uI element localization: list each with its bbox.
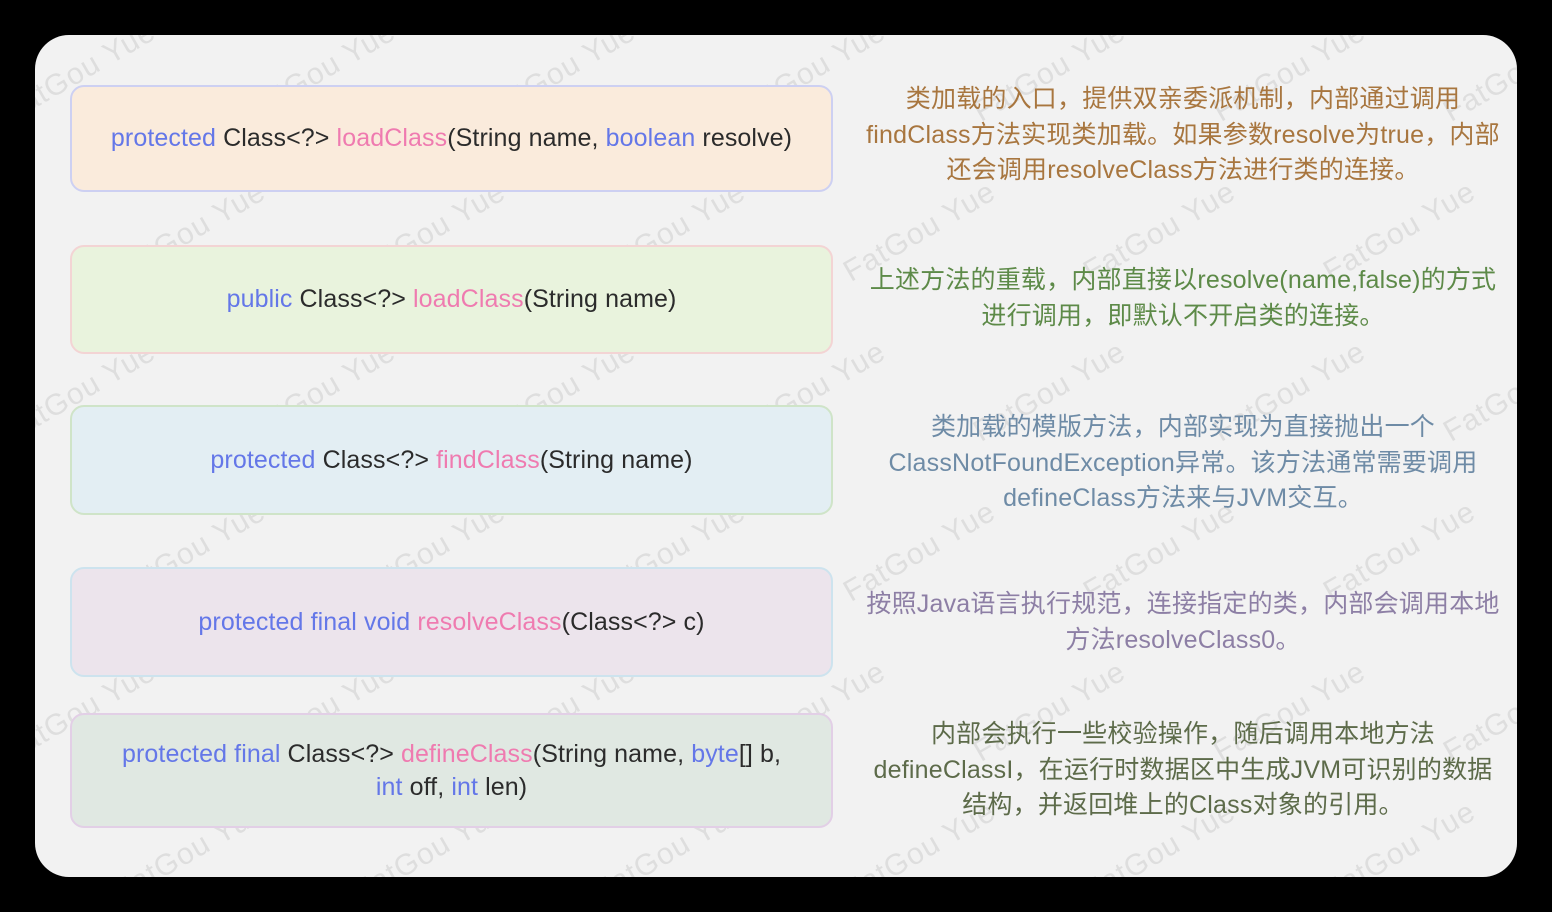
method-signature-card[interactable]: protected Class<?> findClass(String name… [70,405,833,515]
code-token-mth: findClass [436,446,540,474]
method-signature-text: protected final void resolveClass(Class<… [198,606,704,639]
method-signature-card[interactable]: protected final Class<?> defineClass(Str… [70,713,833,828]
code-token-kw: int [376,773,403,801]
code-token-mth: loadClass [337,124,448,152]
code-token-typ: (String name) [524,285,677,313]
code-token-kw: public [227,285,293,313]
code-token-typ: Class<?> [292,285,413,313]
code-token-kw: protected [210,446,315,474]
method-signature-card[interactable]: public Class<?> loadClass(String name) [70,245,833,354]
code-token-kw: int [451,773,478,801]
code-token-typ: len) [478,773,527,801]
code-token-typ: (String name, [533,740,691,768]
method-description: 类加载的模版方法，内部实现为直接抛出一个ClassNotFoundExcepti… [863,410,1503,517]
code-token-mth: loadClass [413,285,524,313]
code-token-typ: Class<?> [216,124,337,152]
code-token-typ: Class<?> [316,446,437,474]
method-signature-card[interactable]: protected final void resolveClass(Class<… [70,567,833,677]
method-signature-text: public Class<?> loadClass(String name) [227,283,677,316]
method-description: 内部会执行一些校验操作，随后调用本地方法defineClassI，在运行时数据区… [863,717,1503,824]
method-signature-text: protected final Class<?> defineClass(Str… [122,738,781,804]
code-token-kw: protected final [122,740,281,768]
code-token-typ: resolve) [695,124,792,152]
code-token-typ: off, [403,773,452,801]
method-description: 上述方法的重载，内部直接以resolve(name,false)的方式进行调用，… [863,263,1503,334]
code-token-typ: (Class<?> c) [562,608,705,636]
method-signature-text: protected Class<?> findClass(String name… [210,444,692,477]
method-signature-text: protected Class<?> loadClass(String name… [111,122,792,155]
code-token-kw: protected [111,124,216,152]
code-token-typ: [] b, [739,740,781,768]
code-token-typ: (String name) [540,446,693,474]
method-description: 按照Java语言执行规范，连接指定的类，内部会调用本地方法resolveClas… [863,587,1503,658]
screenshot-root: FatGou YueFatGou YueFatGou YueFatGou Yue… [0,0,1552,912]
content-panel: FatGou YueFatGou YueFatGou YueFatGou Yue… [35,35,1517,877]
code-token-kw: boolean [606,124,696,152]
code-token-kw: protected final void [198,608,417,636]
code-token-typ: (String name, [447,124,605,152]
method-description: 类加载的入口，提供双亲委派机制，内部通过调用findClass方法实现类加载。如… [863,82,1503,189]
code-token-kw: byte [691,740,739,768]
code-token-mth: resolveClass [417,608,561,636]
method-signature-card[interactable]: protected Class<?> loadClass(String name… [70,85,833,192]
code-token-typ: Class<?> [281,740,402,768]
code-token-mth: defineClass [401,740,533,768]
